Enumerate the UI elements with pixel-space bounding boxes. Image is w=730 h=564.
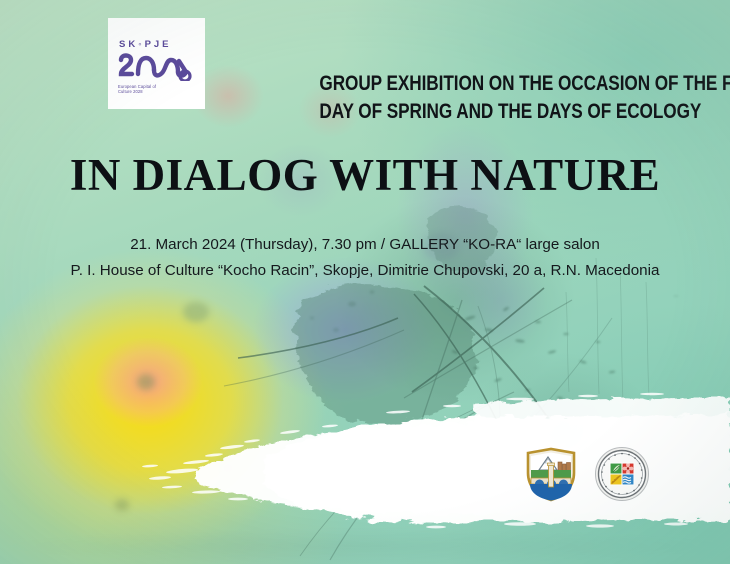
page-title: IN DIALOG WITH NATURE [0,152,730,199]
year-2028-glyphs [118,51,196,81]
city-of-skopje-coat-of-arms [520,443,582,505]
skopje-2028-year-mark [118,51,196,81]
skopje-2028-logo: SK◦PJE European Capital of Culture 2028 [108,18,205,109]
sponsor-badges [520,443,695,505]
bottom-edge-veil [0,528,730,564]
kicker-line-2: DAY OF SPRING AND THE DAYS OF ECOLOGY [319,98,669,126]
logo-caption: European Capital of Culture 2028 [118,84,196,96]
reed-blade-strokes [224,286,612,440]
ink-splatter-flecks [310,266,679,399]
event-details: 21. March 2024 (Thursday), 7.30 pm / GAL… [0,232,730,284]
poster-canvas: SK◦PJE European Capital of Culture 2028 … [0,0,730,564]
event-datetime-venue: 21. March 2024 (Thursday), 7.30 pm / GAL… [0,232,730,258]
arc-stem-strokes [300,392,514,560]
event-address: P. I. House of Culture “Kocho Racin”, Sk… [0,258,730,284]
exhibition-kicker: GROUP EXHIBITION ON THE OCCASION OF THE … [319,70,669,126]
ministry-seal [594,446,650,502]
skopje-wordmark: SK◦PJE [119,40,196,50]
kicker-line-1: GROUP EXHIBITION ON THE OCCASION OF THE … [319,70,669,98]
